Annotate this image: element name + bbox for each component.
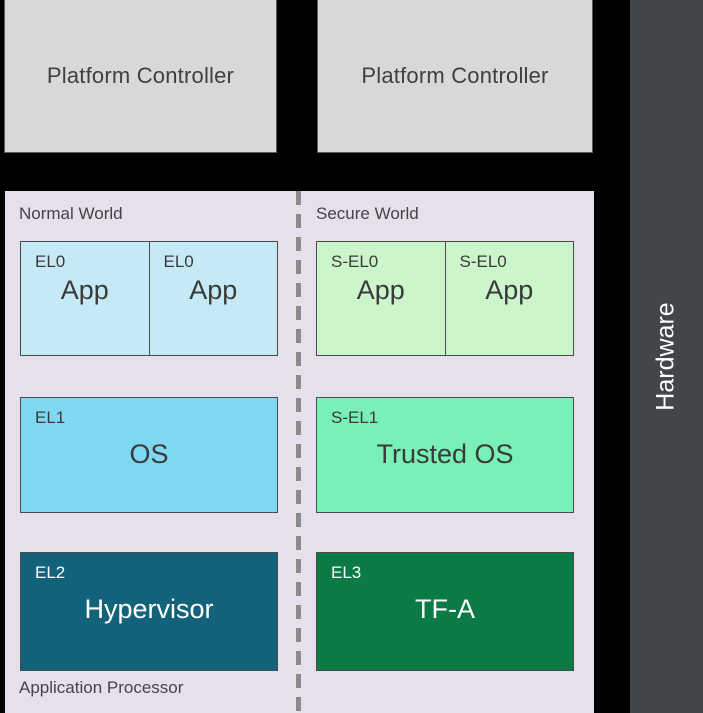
secure-world-el3-tfa[interactable]: EL3 TF-A [316,552,574,671]
secure-world-label: Secure World [316,204,419,224]
normal-world-el2-level: EL2 [21,553,277,581]
normal-world-el0-app-1-level: EL0 [21,242,149,270]
secure-world-el3-title: TF-A [317,581,573,670]
normal-world-el1-os[interactable]: EL1 OS [20,397,278,513]
application-processor-label: Application Processor [19,678,183,698]
normal-world-el1-level: EL1 [21,398,277,426]
secure-world-sel1-trusted-os[interactable]: S-EL1 Trusted OS [316,397,574,513]
secure-world-sel0-app-1[interactable]: S-EL0 App [316,241,446,356]
secure-world-sel0-app-2[interactable]: S-EL0 App [445,241,575,356]
application-processor-panel: Normal World Secure World EL0 App EL0 Ap… [5,191,594,713]
secure-world-sel0-app-row: S-EL0 App S-EL0 App [316,241,574,356]
secure-world-el3-level: EL3 [317,553,573,581]
secure-world-sel0-app-2-title: App [446,270,574,355]
secure-world-sel1-level: S-EL1 [317,398,573,426]
normal-world-el0-app-2-title: App [150,270,278,355]
platform-controller-label-2: Platform Controller [361,63,548,89]
normal-world-el2-hypervisor[interactable]: EL2 Hypervisor [20,552,278,671]
diagram-canvas: Platform Controller Platform Controller … [0,0,703,713]
normal-world-el0-app-1[interactable]: EL0 App [20,241,150,356]
normal-world-el0-app-row: EL0 App EL0 App [20,241,278,356]
hardware-label: Hardware [652,302,681,410]
world-divider [296,191,301,713]
platform-controller-box-2: Platform Controller [317,0,593,153]
normal-world-el0-app-2[interactable]: EL0 App [149,241,279,356]
secure-world-sel0-app-1-title: App [317,270,445,355]
hardware-strip: Hardware [630,0,703,713]
normal-world-el1-title: OS [21,426,277,512]
normal-world-el0-app-1-title: App [21,270,149,355]
platform-controller-box-1: Platform Controller [4,0,277,153]
secure-world-sel0-app-2-level: S-EL0 [446,242,574,270]
normal-world-label: Normal World [19,204,123,224]
secure-world-sel1-title: Trusted OS [317,426,573,512]
platform-controller-label-1: Platform Controller [47,63,234,89]
secure-world-sel0-app-1-level: S-EL0 [317,242,445,270]
normal-world-el0-app-2-level: EL0 [150,242,278,270]
normal-world-el2-title: Hypervisor [21,581,277,670]
